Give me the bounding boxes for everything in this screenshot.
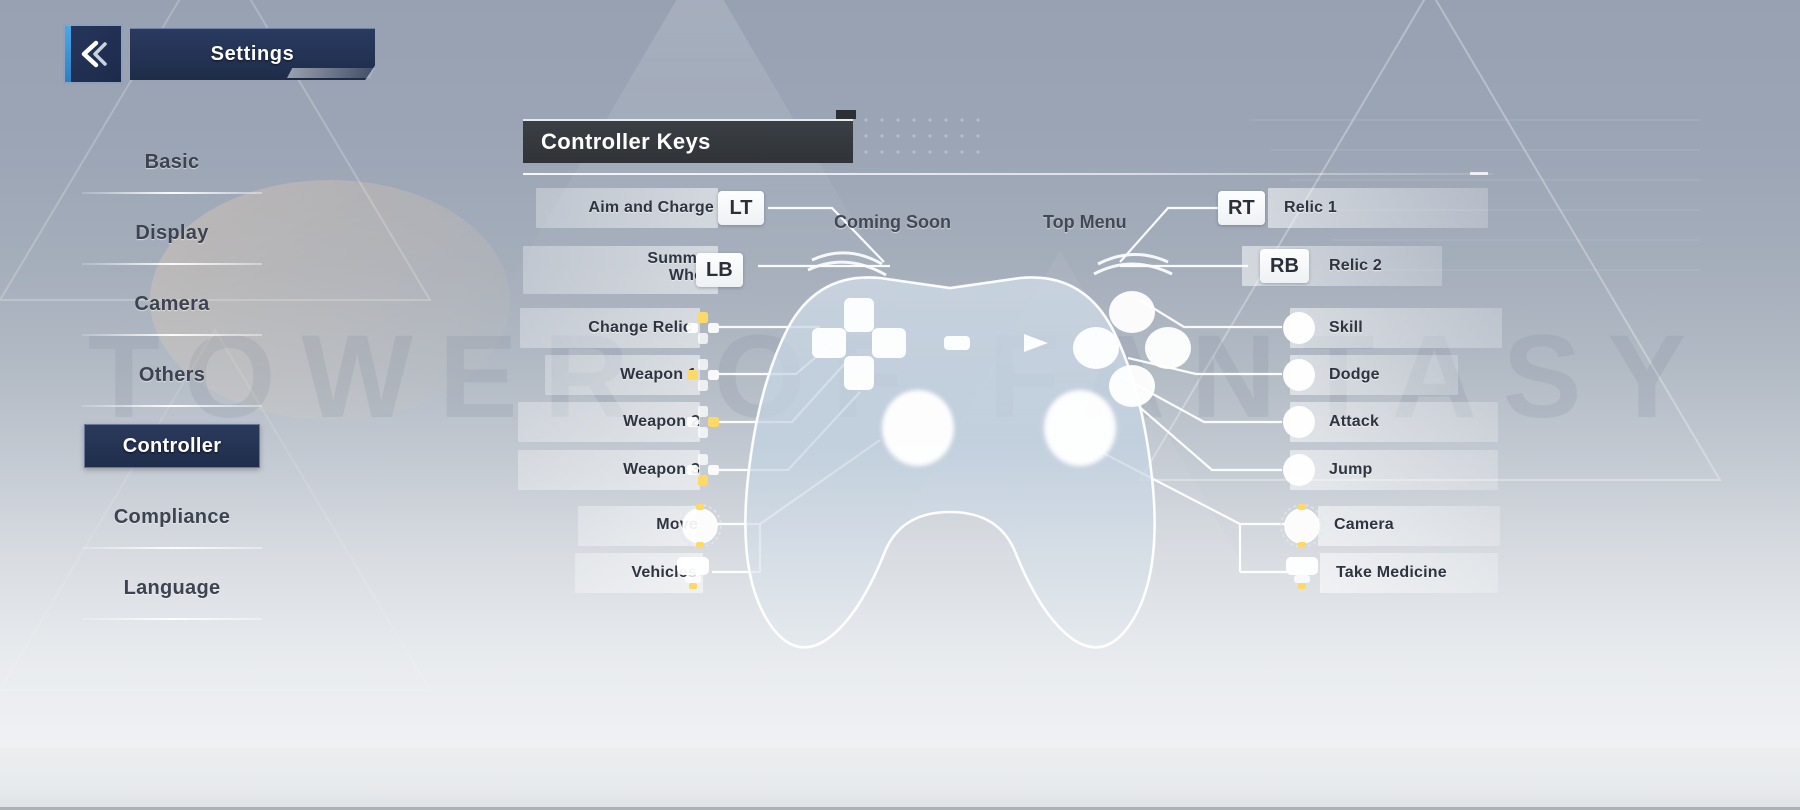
bottom-bar bbox=[0, 748, 1800, 810]
row-background bbox=[1290, 308, 1502, 348]
back-button[interactable] bbox=[63, 24, 123, 84]
section-header-notch bbox=[836, 110, 856, 119]
sidebar-item-basic[interactable]: Basic bbox=[82, 140, 262, 184]
binding-label: Camera bbox=[1334, 516, 1394, 533]
right-stick-press-icon bbox=[1282, 555, 1322, 591]
title-plate-decoration bbox=[287, 68, 375, 78]
binding-label: Weapon 3 bbox=[550, 461, 700, 478]
face-button-icon bbox=[1282, 358, 1316, 392]
face-button-icon bbox=[1282, 453, 1316, 487]
binding-label: Take Medicine bbox=[1336, 564, 1447, 581]
binding-row-relic-2[interactable]: RB Relic 2 bbox=[1243, 246, 1513, 286]
binding-label: Attack bbox=[1329, 413, 1379, 430]
sidebar-item-language[interactable]: Language bbox=[82, 566, 262, 610]
center-note-top-menu: Top Menu bbox=[1043, 212, 1127, 233]
sidebar-item-label: Compliance bbox=[114, 506, 230, 529]
sidebar-item-display[interactable]: Display bbox=[82, 211, 262, 255]
dpad-down-icon bbox=[686, 453, 720, 487]
binding-label: Weapon 2 bbox=[550, 413, 700, 430]
section-divider bbox=[523, 173, 1493, 175]
settings-sidebar: Basic Display Camera Others Controller C… bbox=[82, 140, 262, 637]
binding-label: Aim and Charge bbox=[544, 199, 714, 216]
keycap-lb[interactable]: LB bbox=[696, 253, 743, 287]
left-stick-icon bbox=[678, 504, 722, 548]
keycap-lt[interactable]: LT bbox=[718, 191, 764, 225]
left-stick-press-icon bbox=[673, 555, 713, 591]
binding-row-attack[interactable]: Attack bbox=[1282, 402, 1512, 442]
row-background bbox=[1290, 450, 1498, 490]
section-title: Controller Keys bbox=[541, 129, 711, 155]
binding-row-move[interactable]: Move bbox=[578, 504, 758, 548]
binding-row-weapon-2[interactable]: Weapon 2 bbox=[518, 402, 748, 442]
dot-grid-decoration bbox=[862, 116, 982, 168]
binding-row-camera[interactable]: Camera bbox=[1280, 504, 1510, 548]
sidebar-item-others[interactable]: Others bbox=[82, 353, 262, 397]
binding-label: Dodge bbox=[1329, 366, 1380, 383]
center-note-coming-soon: Coming Soon bbox=[834, 212, 951, 233]
binding-label: Skill bbox=[1329, 319, 1363, 336]
binding-label: Weapon 1 bbox=[557, 366, 697, 383]
right-stick-icon bbox=[1280, 504, 1324, 548]
binding-label: Relic 2 bbox=[1329, 257, 1382, 274]
binding-row-weapon-1[interactable]: Weapon 1 bbox=[545, 355, 745, 395]
binding-label: Change Relic bbox=[532, 319, 692, 336]
sidebar-item-label: Others bbox=[139, 364, 205, 387]
binding-row-vehicles[interactable]: Vehicles bbox=[575, 553, 755, 593]
controller-illustration bbox=[700, 240, 1280, 660]
binding-label: Jump bbox=[1329, 461, 1372, 478]
keycap-rt[interactable]: RT bbox=[1218, 191, 1265, 225]
binding-row-change-relic[interactable]: Change Relic bbox=[520, 308, 740, 348]
sidebar-item-label: Camera bbox=[134, 293, 209, 316]
binding-row-weapon-3[interactable]: Weapon 3 bbox=[518, 450, 748, 490]
page-title-label: Settings bbox=[211, 43, 295, 66]
binding-row-summon-wheel[interactable]: Summon Wheel LB bbox=[523, 246, 773, 294]
sidebar-item-compliance[interactable]: Compliance bbox=[82, 495, 262, 539]
section-divider-end bbox=[1470, 172, 1488, 175]
row-background bbox=[1290, 402, 1498, 442]
face-button-icon bbox=[1282, 311, 1316, 345]
binding-row-take-medicine[interactable]: Take Medicine bbox=[1282, 553, 1512, 593]
binding-row-jump[interactable]: Jump bbox=[1282, 450, 1512, 490]
double-chevron-left-icon bbox=[76, 39, 110, 69]
sidebar-item-label: Display bbox=[135, 222, 208, 245]
binding-row-aim-and-charge[interactable]: Aim and Charge LT bbox=[536, 188, 776, 228]
binding-label: Relic 1 bbox=[1284, 199, 1337, 216]
dpad-right-icon bbox=[686, 405, 720, 439]
sidebar-item-label: Basic bbox=[145, 151, 200, 174]
sidebar-item-label: Controller bbox=[123, 435, 222, 458]
dpad-up-icon bbox=[686, 311, 720, 345]
face-button-icon bbox=[1282, 405, 1316, 439]
dpad-left-icon bbox=[686, 358, 720, 392]
binding-label: Summon Wheel bbox=[557, 250, 717, 285]
sidebar-item-label: Language bbox=[124, 577, 221, 600]
section-header: Controller Keys bbox=[523, 119, 853, 163]
binding-row-skill[interactable]: Skill bbox=[1282, 308, 1512, 348]
keycap-rb[interactable]: RB bbox=[1260, 249, 1309, 283]
binding-row-relic-1[interactable]: RT Relic 1 bbox=[1218, 188, 1488, 228]
binding-row-dodge[interactable]: Dodge bbox=[1282, 355, 1482, 395]
sidebar-item-controller[interactable]: Controller bbox=[84, 424, 260, 468]
sidebar-item-camera[interactable]: Camera bbox=[82, 282, 262, 326]
